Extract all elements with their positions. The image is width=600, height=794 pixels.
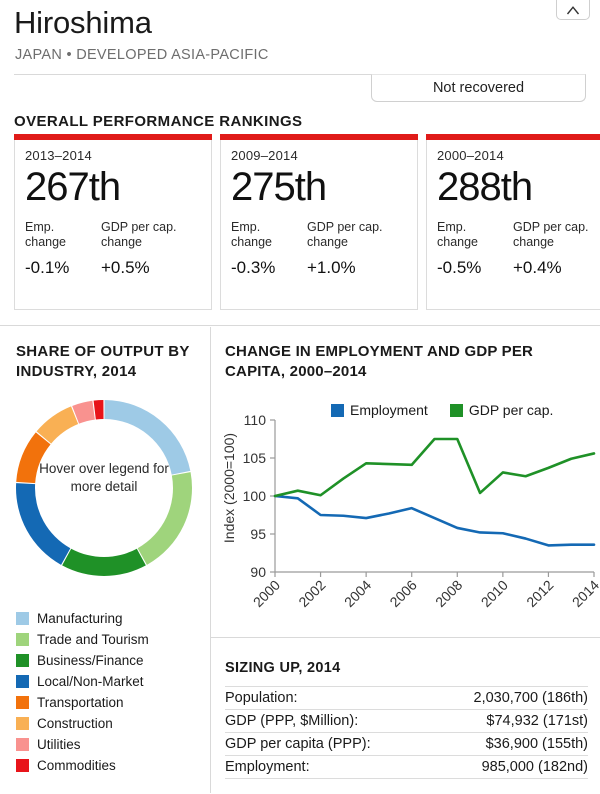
- legend-swatch: [16, 717, 29, 730]
- x-tick-label: 2010: [478, 577, 511, 610]
- employment-gdp-chart-panel: CHANGE IN EMPLOYMENT AND GDP PER CAPITA,…: [211, 330, 600, 637]
- card-accent-bar: [426, 134, 600, 140]
- rankings-section-heading: OVERALL PERFORMANCE RANKINGS: [14, 113, 302, 130]
- donut-slice-business-finance[interactable]: [62, 549, 146, 576]
- x-tick-label: 2014: [569, 577, 600, 610]
- card-accent-bar: [14, 134, 212, 140]
- line-chart-svg: 9095100105110200020022004200620082010201…: [211, 412, 600, 632]
- card-metric-employment: Emp. change -0.1%: [25, 220, 101, 279]
- sizing-row-value: $36,900 (155th): [428, 733, 588, 756]
- metric-value: +1.0%: [307, 257, 407, 279]
- table-row: GDP (PPP, $Million):$74,932 (171st): [225, 710, 588, 733]
- sizing-up-table: Population:2,030,700 (186th)GDP (PPP, $M…: [225, 686, 588, 779]
- city-profile-panel: Hiroshima JAPAN • DEVELOPED ASIA-PACIFIC…: [0, 0, 600, 794]
- legend-item-transportation[interactable]: Transportation: [16, 692, 206, 713]
- metric-label-line1: Emp.: [231, 220, 307, 235]
- legend-swatch: [16, 738, 29, 751]
- y-tick-label: 95: [250, 526, 266, 542]
- table-row: Employment:985,000 (182nd): [225, 756, 588, 779]
- metric-label-line1: GDP per cap.: [101, 220, 201, 235]
- legend-label: Manufacturing: [37, 611, 123, 626]
- legend-item-utilities[interactable]: Utilities: [16, 734, 206, 755]
- sizing-row-value: 985,000 (182nd): [428, 756, 588, 779]
- legend-swatch: [16, 696, 29, 709]
- metric-value: -0.3%: [231, 257, 307, 279]
- metric-label-line2: change: [437, 235, 513, 250]
- sizing-section-heading: SIZING UP, 2014: [225, 660, 340, 676]
- legend-item-trade-and-tourism[interactable]: Trade and Tourism: [16, 629, 206, 650]
- legend-label: Trade and Tourism: [37, 632, 149, 647]
- metric-label-line2: change: [513, 235, 600, 250]
- card-rank-value: 275th: [231, 164, 407, 210]
- card-accent-bar: [220, 134, 418, 140]
- sizing-row-label: Employment:: [225, 756, 428, 779]
- page-title: Hiroshima: [14, 4, 152, 42]
- sizing-row-value: $74,932 (171st): [428, 710, 588, 733]
- card-metrics: Emp. change -0.3% GDP per cap. change +1…: [231, 220, 407, 279]
- series-line-gdp-per-cap-: [275, 439, 594, 496]
- sizing-up-panel: SIZING UP, 2014 Population:2,030,700 (18…: [211, 638, 600, 794]
- donut-chart: Hover over legend for more detail: [14, 398, 194, 578]
- metric-label-line2: change: [101, 235, 201, 250]
- metric-label-line2: change: [231, 235, 307, 250]
- legend-swatch: [16, 759, 29, 772]
- metric-label-line1: Emp.: [437, 220, 513, 235]
- legend-swatch: [16, 654, 29, 667]
- donut-section-heading: SHARE OF OUTPUT BY INDUSTRY, 2014: [16, 342, 196, 382]
- legend-label: Local/Non-Market: [37, 674, 144, 689]
- line-chart-heading: CHANGE IN EMPLOYMENT AND GDP PER CAPITA,…: [225, 342, 587, 382]
- metric-label-line2: change: [25, 235, 101, 250]
- legend-label: Utilities: [37, 737, 81, 752]
- card-period: 2013–2014: [25, 148, 201, 163]
- sizing-row-label: Population:: [225, 687, 428, 710]
- city-region-subtitle: JAPAN • DEVELOPED ASIA-PACIFIC: [15, 47, 269, 63]
- card-metrics: Emp. change -0.5% GDP per cap. change +0…: [437, 220, 600, 279]
- card-period: 2009–2014: [231, 148, 407, 163]
- x-tick-label: 2000: [250, 577, 283, 610]
- legend-item-commodities[interactable]: Commodities: [16, 755, 206, 776]
- card-metric-gdp: GDP per cap. change +0.4%: [513, 220, 600, 279]
- status-badge: Not recovered: [371, 74, 586, 102]
- legend-item-local-non-market[interactable]: Local/Non-Market: [16, 671, 206, 692]
- x-tick-label: 2002: [295, 577, 328, 610]
- y-tick-label: 90: [250, 564, 266, 580]
- legend-label: Commodities: [37, 758, 116, 773]
- series-line-employment: [275, 496, 594, 545]
- metric-value: +0.4%: [513, 257, 600, 279]
- metric-label-line1: GDP per cap.: [307, 220, 407, 235]
- metric-label-line1: GDP per cap.: [513, 220, 600, 235]
- card-period: 2000–2014: [437, 148, 600, 163]
- legend-label: Transportation: [37, 695, 124, 710]
- legend-swatch: [16, 633, 29, 646]
- table-row: GDP per capita (PPP):$36,900 (155th): [225, 733, 588, 756]
- y-tick-label: 100: [243, 488, 267, 504]
- card-rank-value: 267th: [25, 164, 201, 210]
- legend-item-business-finance[interactable]: Business/Finance: [16, 650, 206, 671]
- close-button[interactable]: [556, 0, 590, 20]
- ranking-card: 2009–2014 275th Emp. change -0.3% GDP pe…: [220, 140, 418, 310]
- metric-value: +0.5%: [101, 257, 201, 279]
- metric-value: -0.1%: [25, 257, 101, 279]
- industry-share-panel: SHARE OF OUTPUT BY INDUSTRY, 2014 Hover …: [0, 330, 210, 794]
- ranking-card: 2013–2014 267th Emp. change -0.1% GDP pe…: [14, 140, 212, 310]
- x-tick-label: 2004: [341, 577, 374, 610]
- section-divider-horizontal: [0, 325, 600, 326]
- x-tick-label: 2006: [386, 577, 419, 610]
- x-tick-label: 2012: [523, 577, 556, 610]
- sizing-row-value: 2,030,700 (186th): [428, 687, 588, 710]
- table-row: Population:2,030,700 (186th): [225, 687, 588, 710]
- card-metric-gdp: GDP per cap. change +0.5%: [101, 220, 201, 279]
- card-metrics: Emp. change -0.1% GDP per cap. change +0…: [25, 220, 201, 279]
- close-icon: [566, 5, 580, 16]
- metric-label-line2: change: [307, 235, 407, 250]
- card-metric-gdp: GDP per cap. change +1.0%: [307, 220, 407, 279]
- card-metric-employment: Emp. change -0.3%: [231, 220, 307, 279]
- header: Hiroshima JAPAN • DEVELOPED ASIA-PACIFIC…: [0, 0, 600, 75]
- card-rank-value: 288th: [437, 164, 600, 210]
- legend-swatch: [16, 612, 29, 625]
- rankings-card-row: 2013–2014 267th Emp. change -0.1% GDP pe…: [14, 140, 586, 310]
- card-metric-employment: Emp. change -0.5%: [437, 220, 513, 279]
- sizing-row-label: GDP per capita (PPP):: [225, 733, 428, 756]
- legend-item-construction[interactable]: Construction: [16, 713, 206, 734]
- sizing-row-label: GDP (PPP, $Million):: [225, 710, 428, 733]
- x-tick-label: 2008: [432, 577, 465, 610]
- legend-label: Construction: [37, 716, 113, 731]
- ranking-card: 2000–2014 288th Emp. change -0.5% GDP pe…: [426, 140, 600, 310]
- donut-slice-commodities[interactable]: [94, 400, 104, 419]
- metric-value: -0.5%: [437, 257, 513, 279]
- y-tick-label: 110: [244, 412, 267, 428]
- donut-legend: ManufacturingTrade and TourismBusiness/F…: [16, 608, 206, 776]
- legend-swatch: [16, 675, 29, 688]
- y-tick-label: 105: [243, 450, 267, 466]
- donut-center-hint: Hover over legend for more detail: [32, 460, 176, 496]
- metric-label-line1: Emp.: [25, 220, 101, 235]
- legend-label: Business/Finance: [37, 653, 144, 668]
- legend-item-manufacturing[interactable]: Manufacturing: [16, 608, 206, 629]
- donut-slice-construction[interactable]: [37, 406, 79, 443]
